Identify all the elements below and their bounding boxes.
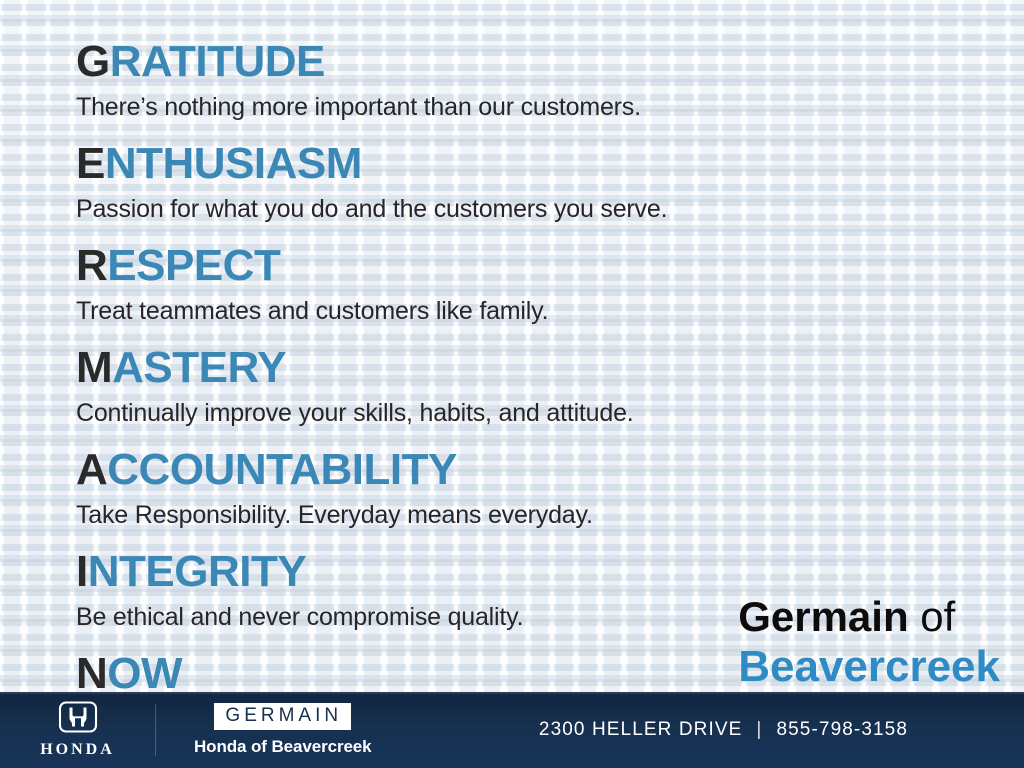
value-word-remainder: ASTERY bbox=[112, 343, 286, 392]
honda-logo: HONDA bbox=[0, 701, 155, 759]
footer-contact-info: 2300 HELLER DRIVE | 855-798-3158 bbox=[539, 719, 1024, 741]
value-description-gratitude: There’s nothing more important than our … bbox=[76, 90, 976, 124]
value-description-respect: Treat teammates and customers like famil… bbox=[76, 294, 976, 328]
value-heading-respect: RESPECT bbox=[76, 240, 976, 292]
value-word-remainder: ESPECT bbox=[107, 241, 280, 290]
value-initial: A bbox=[76, 445, 107, 494]
value-initial: N bbox=[76, 649, 107, 698]
value-heading-accountability: ACCOUNTABILITY bbox=[76, 444, 976, 496]
value-heading-integrity: INTEGRITY bbox=[76, 546, 976, 598]
footer-bar: HONDA GERMAIN Honda of Beavercreek 2300 … bbox=[0, 692, 1024, 768]
value-item-gratitude: GRATITUDE There’s nothing more important… bbox=[76, 36, 976, 124]
value-initial: M bbox=[76, 343, 112, 392]
contact-separator: | bbox=[756, 719, 762, 741]
value-item-accountability: ACCOUNTABILITY Take Responsibility. Ever… bbox=[76, 444, 976, 532]
brand-name: Germain bbox=[738, 593, 908, 640]
value-initial: I bbox=[76, 547, 88, 596]
value-heading-gratitude: GRATITUDE bbox=[76, 36, 976, 88]
value-initial: E bbox=[76, 139, 105, 188]
value-initial: R bbox=[76, 241, 107, 290]
value-item-enthusiasm: ENTHUSIASM Passion for what you do and t… bbox=[76, 138, 976, 226]
brand-headline: Germain of Beavercreek bbox=[738, 594, 1000, 690]
germain-boxed-wordmark: GERMAIN bbox=[214, 703, 351, 730]
brand-headline-line-1: Germain of bbox=[738, 594, 1000, 640]
dealership-phone[interactable]: 855-798-3158 bbox=[776, 719, 908, 741]
germain-dealership-logo: GERMAIN Honda of Beavercreek bbox=[156, 703, 372, 757]
value-heading-enthusiasm: ENTHUSIASM bbox=[76, 138, 976, 190]
dealership-address: 2300 HELLER DRIVE bbox=[539, 719, 743, 741]
value-heading-mastery: MASTERY bbox=[76, 342, 976, 394]
germain-dealership-name: Honda of Beavercreek bbox=[194, 737, 372, 757]
value-initial: G bbox=[76, 37, 110, 86]
value-word-remainder: CCOUNTABILITY bbox=[107, 445, 457, 494]
honda-wordmark: HONDA bbox=[40, 741, 115, 759]
value-word-remainder: RATITUDE bbox=[110, 37, 325, 86]
value-description-enthusiasm: Passion for what you do and the customer… bbox=[76, 192, 976, 226]
values-poster: GRATITUDE There’s nothing more important… bbox=[0, 0, 1024, 768]
value-word-remainder: NTHUSIASM bbox=[105, 139, 362, 188]
value-item-respect: RESPECT Treat teammates and customers li… bbox=[76, 240, 976, 328]
value-description-mastery: Continually improve your skills, habits,… bbox=[76, 396, 976, 430]
value-description-accountability: Take Responsibility. Everyday means ever… bbox=[76, 498, 976, 532]
brand-headline-line-2: Beavercreek bbox=[738, 644, 1000, 690]
value-item-mastery: MASTERY Continually improve your skills,… bbox=[76, 342, 976, 430]
brand-connector: of bbox=[920, 593, 955, 640]
value-word-remainder: NTEGRITY bbox=[88, 547, 306, 596]
honda-h-emblem-icon bbox=[58, 701, 98, 738]
value-word-remainder: OW bbox=[107, 649, 182, 698]
